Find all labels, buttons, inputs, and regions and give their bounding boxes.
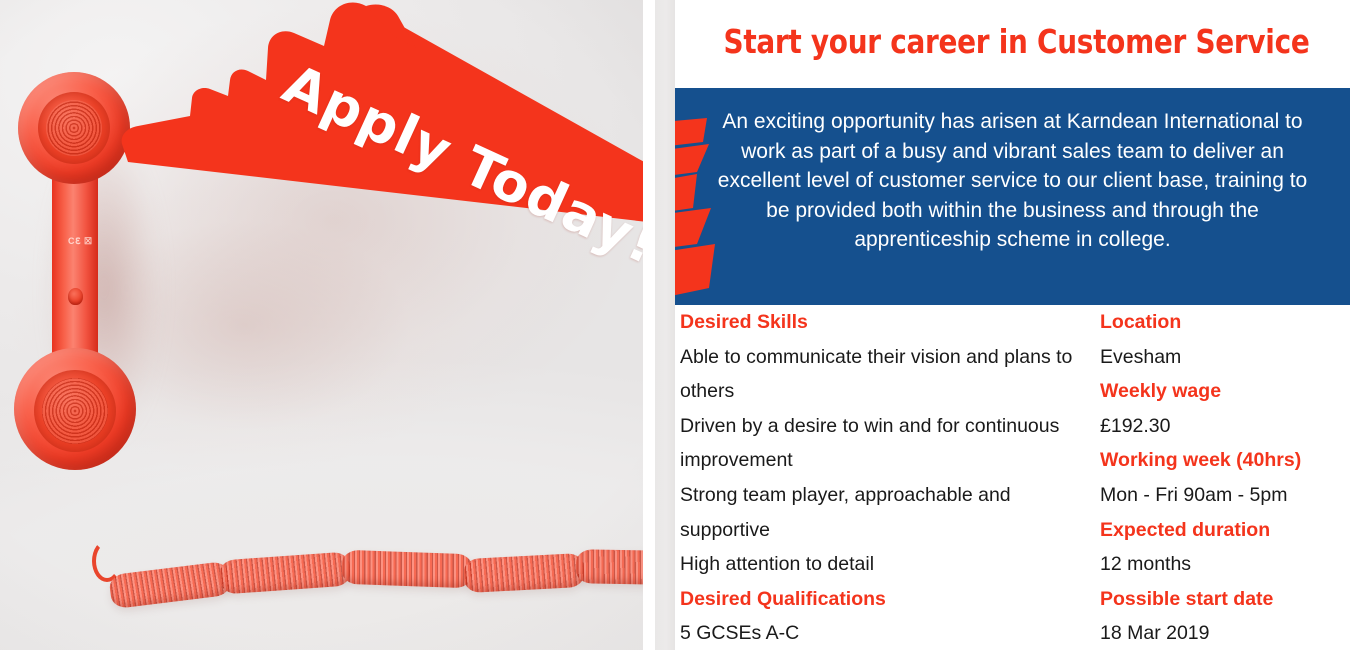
field-value-working-week: Mon - Fri 90am - 5pm	[1100, 478, 1350, 513]
intro-banner: An exciting opportunity has arisen at Ka…	[675, 88, 1350, 305]
job-details-panel: Start your career in Customer Service An…	[675, 0, 1350, 650]
field-value-weekly-wage: £192.30	[1100, 409, 1350, 444]
field-label-desired-skills: Desired Skills	[680, 305, 1100, 340]
field-value-qualification: 5 GCSEs A-C	[680, 616, 1100, 650]
field-value-expected-duration: 12 months	[1100, 547, 1350, 582]
page-title: Start your career in Customer Service	[703, 22, 1330, 61]
field-label-desired-qualifications: Desired Qualifications	[680, 582, 1100, 617]
job-advert-page: Cℇ ☒ Apply Today! Start your career in C…	[0, 0, 1350, 650]
field-label-weekly-wage: Weekly wage	[1100, 374, 1350, 409]
field-value-possible-start-date: 18 Mar 2019	[1100, 616, 1350, 650]
field-label-working-week: Working week (40hrs)	[1100, 443, 1350, 478]
field-value-skill: Strong team player, approachable and sup…	[680, 478, 1100, 547]
details-left-column: Desired Skills Able to communicate their…	[680, 305, 1100, 650]
vertical-gray-divider	[655, 0, 675, 650]
field-label-possible-start-date: Possible start date	[1100, 582, 1350, 617]
field-value-skill: Driven by a desire to win and for contin…	[680, 409, 1100, 478]
details-columns: Desired Skills Able to communicate their…	[675, 305, 1350, 650]
field-value-location: Evesham	[1100, 340, 1350, 375]
hero-photo: Cℇ ☒ Apply Today!	[0, 0, 643, 650]
field-value-skill: High attention to detail	[680, 547, 1100, 582]
details-right-column: Location Evesham Weekly wage £192.30 Wor…	[1100, 305, 1350, 650]
intro-paragraph: An exciting opportunity has arisen at Ka…	[709, 107, 1316, 255]
photo-content-gap	[643, 0, 655, 650]
field-value-skill: Able to communicate their vision and pla…	[680, 340, 1100, 409]
field-label-expected-duration: Expected duration	[1100, 513, 1350, 548]
field-label-location: Location	[1100, 305, 1350, 340]
